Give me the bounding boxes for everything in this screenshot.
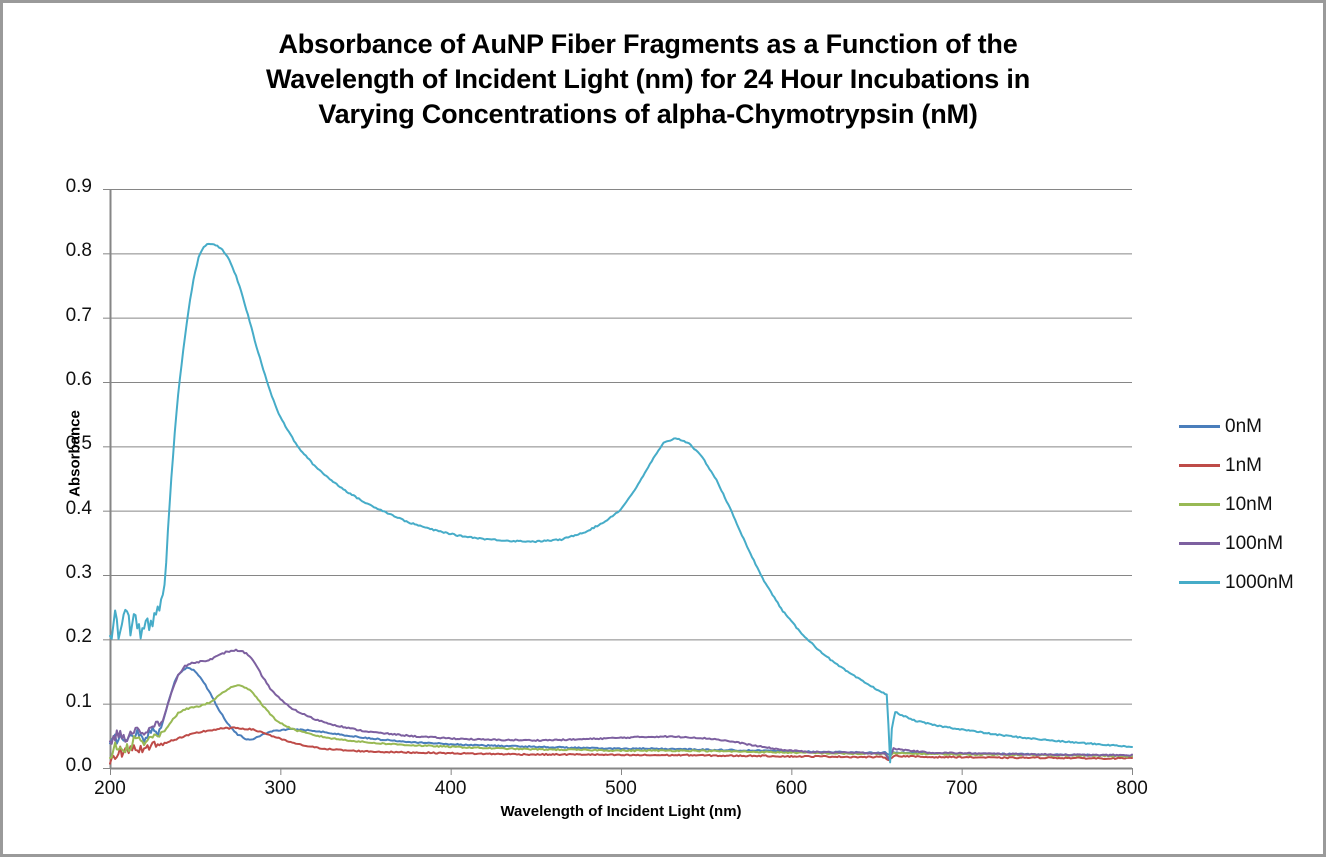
gridlines [110, 190, 1132, 705]
data-series-layer [110, 244, 1132, 764]
y-axis-title: Absorbance [67, 374, 84, 534]
y-tick-label: 0.1 [40, 691, 92, 713]
legend-swatch-icon [1179, 503, 1220, 506]
x-tick-label: 500 [581, 778, 661, 800]
axis-ticks [103, 190, 1133, 776]
series-line-10nm [110, 685, 1132, 758]
legend-label: 1nM [1225, 455, 1262, 477]
legend-label: 1000nM [1225, 572, 1294, 594]
x-tick-label: 800 [1092, 778, 1172, 800]
legend-item-100nm[interactable]: 100nM [1179, 524, 1321, 563]
y-tick-label: 0.3 [40, 562, 92, 584]
chart-legend: 0nM1nM10nM100nM1000nM [1179, 407, 1321, 602]
legend-item-1nm[interactable]: 1nM [1179, 446, 1321, 485]
legend-swatch-icon [1179, 425, 1220, 428]
legend-item-10nm[interactable]: 10nM [1179, 485, 1321, 524]
legend-swatch-icon [1179, 464, 1220, 467]
x-axis-title: Wavelength of Incident Light (nm) [110, 803, 1132, 820]
x-tick-label: 300 [240, 778, 320, 800]
legend-item-0nm[interactable]: 0nM [1179, 407, 1321, 446]
series-line-0nm [110, 668, 1132, 756]
x-tick-label: 200 [70, 778, 150, 800]
plot-area [3, 3, 1326, 860]
y-tick-label: 0.0 [40, 755, 92, 777]
chart-figure: Absorbance of AuNP Fiber Fragments as a … [0, 0, 1326, 857]
legend-label: 100nM [1225, 533, 1283, 555]
axis-lines [110, 189, 1132, 769]
series-line-1000nm [110, 244, 1132, 763]
plot-svg [3, 3, 1326, 860]
y-tick-label: 0.8 [40, 240, 92, 262]
legend-label: 0nM [1225, 416, 1262, 438]
x-tick-label: 600 [751, 778, 831, 800]
legend-item-1000nm[interactable]: 1000nM [1179, 563, 1321, 602]
legend-label: 10nM [1225, 494, 1273, 516]
y-tick-label: 0.7 [40, 305, 92, 327]
y-tick-label: 0.2 [40, 626, 92, 648]
x-tick-label: 400 [411, 778, 491, 800]
x-tick-label: 700 [922, 778, 1002, 800]
legend-swatch-icon [1179, 581, 1220, 584]
y-tick-label: 0.9 [40, 176, 92, 198]
legend-swatch-icon [1179, 542, 1220, 545]
